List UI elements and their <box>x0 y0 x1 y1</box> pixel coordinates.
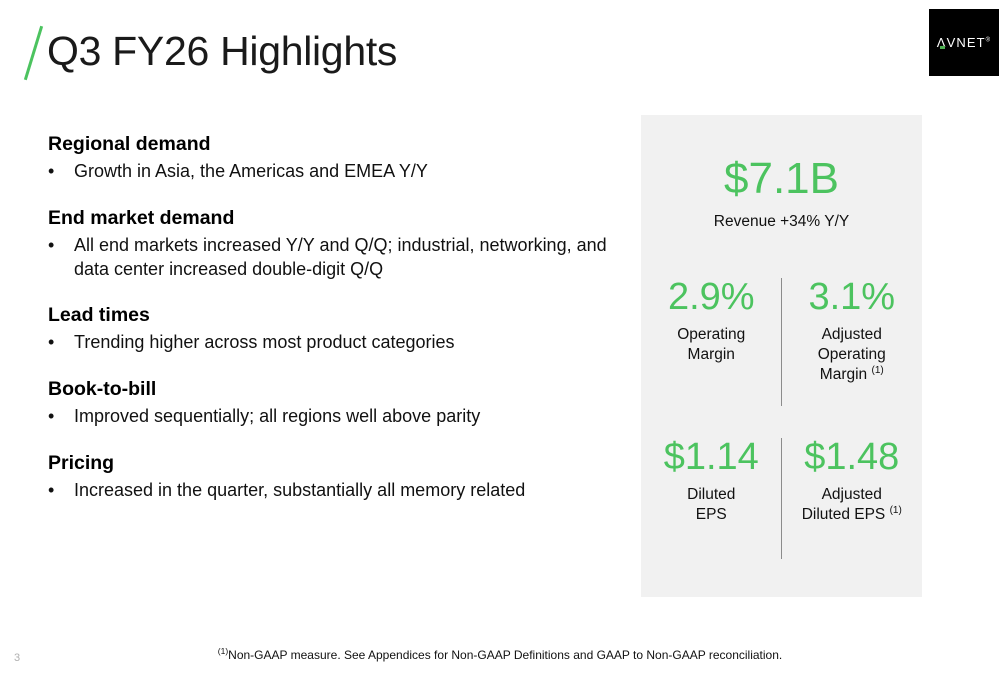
bullet-text: Increased in the quarter, substantially … <box>74 479 618 503</box>
bullet-text: Improved sequentially; all regions well … <box>74 405 618 429</box>
label-line-1: Adjusted <box>822 486 882 503</box>
label-line-2: Operating <box>818 346 886 363</box>
bullet-dot-icon: • <box>48 479 74 503</box>
logo-accent-mark <box>940 46 945 49</box>
label-line-1: Diluted <box>687 486 735 503</box>
list-item: • Increased in the quarter, substantiall… <box>48 479 618 503</box>
section-heading: Regional demand <box>48 133 618 156</box>
footnote-marker: (1) <box>218 646 228 656</box>
label-line-1: Operating <box>677 326 745 343</box>
green-slash-icon <box>21 22 45 80</box>
metric-adjusted-operating-margin-value: 3.1% <box>788 278 917 316</box>
metric-adjusted-operating-margin-label: Adjusted Operating Margin (1) <box>788 325 917 385</box>
metric-revenue-value: $7.1B <box>641 157 922 201</box>
section-book-to-bill: Book-to-bill • Improved sequentially; al… <box>48 378 618 429</box>
metric-adjusted-operating-margin: 3.1% Adjusted Operating Margin (1) <box>782 278 923 385</box>
label-line-2: Margin <box>688 346 735 363</box>
metric-adjusted-diluted-eps-value: $1.48 <box>788 438 917 476</box>
metric-adjusted-diluted-eps-label: Adjusted Diluted EPS (1) <box>788 485 917 525</box>
metric-group-margins: 2.9% Operating Margin 3.1% Adjusted Oper… <box>641 278 922 385</box>
bullet-text: Trending higher across most product cate… <box>74 331 618 355</box>
logo-trademark-symbol: ® <box>986 38 992 44</box>
highlights-list: Regional demand • Growth in Asia, the Am… <box>48 133 618 503</box>
bullet-dot-icon: • <box>48 160 74 184</box>
metric-revenue-caption: Revenue +34% Y/Y <box>641 212 922 231</box>
label-line-2: Diluted EPS <box>802 506 886 523</box>
slide-canvas: ΛVNET® Q3 FY26 Highlights Regional deman… <box>0 0 1000 685</box>
metric-operating-margin-value: 2.9% <box>647 278 776 316</box>
section-heading: Pricing <box>48 452 618 475</box>
bullet-dot-icon: • <box>48 405 74 429</box>
list-item: • Growth in Asia, the Americas and EMEA … <box>48 160 618 184</box>
page-number: 3 <box>14 652 20 664</box>
bullet-dot-icon: • <box>48 331 74 355</box>
metric-diluted-eps-value: $1.14 <box>647 438 776 476</box>
section-lead-times: Lead times • Trending higher across most… <box>48 304 618 355</box>
metric-diluted-eps-label: Diluted EPS <box>647 485 776 525</box>
page-title-text: Q3 FY26 Highlights <box>47 31 397 72</box>
avnet-logo: ΛVNET® <box>929 9 999 76</box>
label-line-2: EPS <box>696 506 727 523</box>
section-end-market-demand: End market demand • All end markets incr… <box>48 207 618 282</box>
section-pricing: Pricing • Increased in the quarter, subs… <box>48 452 618 503</box>
metric-operating-margin-label: Operating Margin <box>647 325 776 365</box>
metric-adjusted-diluted-eps: $1.48 Adjusted Diluted EPS (1) <box>782 438 923 525</box>
section-regional-demand: Regional demand • Growth in Asia, the Am… <box>48 133 618 184</box>
list-item: • All end markets increased Y/Y and Q/Q;… <box>48 234 618 282</box>
list-item: • Trending higher across most product ca… <box>48 331 618 355</box>
metric-operating-margin: 2.9% Operating Margin <box>641 278 782 385</box>
page-title: Q3 FY26 Highlights <box>21 22 397 80</box>
avnet-wordmark: ΛVNET® <box>937 36 991 49</box>
list-item: • Improved sequentially; all regions wel… <box>48 405 618 429</box>
section-heading: End market demand <box>48 207 618 230</box>
bullet-dot-icon: • <box>48 234 74 258</box>
key-metrics-panel: $7.1B Revenue +34% Y/Y 2.9% Operating Ma… <box>641 115 922 597</box>
footnote-marker: (1) <box>871 365 883 376</box>
bullet-text: Growth in Asia, the Americas and EMEA Y/… <box>74 160 618 184</box>
metric-group-eps: $1.14 Diluted EPS $1.48 Adjusted Diluted… <box>641 438 922 525</box>
bullet-text: All end markets increased Y/Y and Q/Q; i… <box>74 234 618 282</box>
section-heading: Lead times <box>48 304 618 327</box>
section-heading: Book-to-bill <box>48 378 618 401</box>
label-line-1: Adjusted <box>822 326 882 343</box>
label-line-3: Margin <box>820 366 867 383</box>
metric-revenue: $7.1B Revenue +34% Y/Y <box>641 157 922 231</box>
metric-diluted-eps: $1.14 Diluted EPS <box>641 438 782 525</box>
footnote-text: Non-GAAP measure. See Appendices for Non… <box>228 648 782 662</box>
footnote: (1)Non-GAAP measure. See Appendices for … <box>0 648 1000 662</box>
footnote-marker: (1) <box>890 505 902 516</box>
